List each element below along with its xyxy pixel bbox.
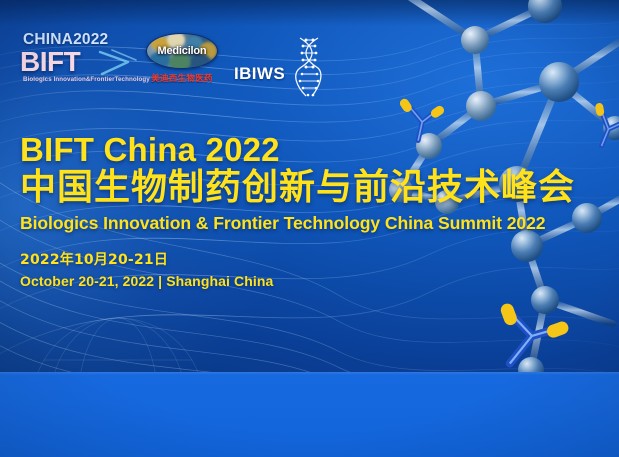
conference-banner: CHINA2022 BIFT Biologics Innovation&Fron… [0, 0, 619, 457]
background-vignette [0, 0, 619, 457]
